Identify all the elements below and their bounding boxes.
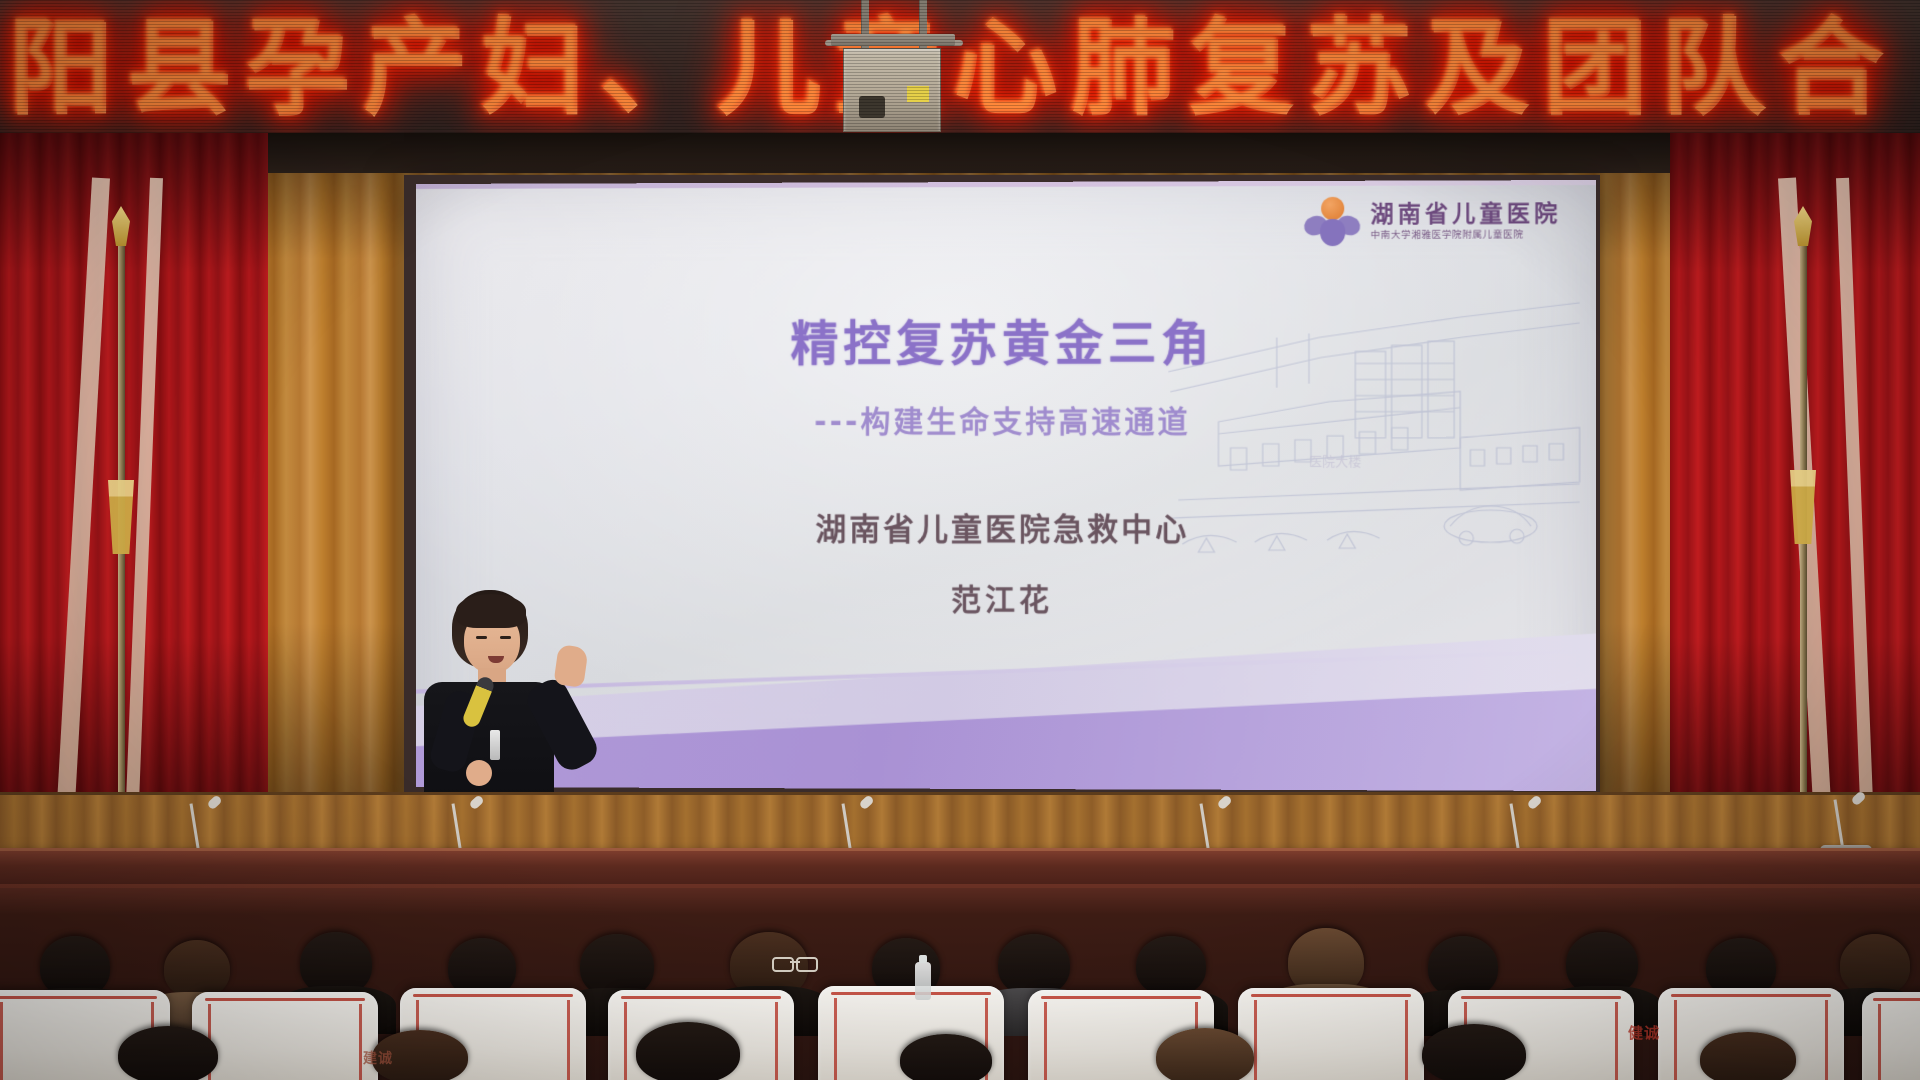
- mic-neck: [190, 803, 200, 851]
- chair-stripe: [1825, 1000, 1828, 1080]
- audience-head-front: [1156, 1028, 1254, 1080]
- hospital-name: 湖南省儿童医院: [1370, 203, 1561, 227]
- presenter-hand-holding-mic: [466, 760, 492, 786]
- slide-title: 精控复苏黄金三角: [416, 303, 1596, 375]
- hospital-logo-text: 湖南省儿童医院 中南大学湘雅医学院附属儿童医院: [1370, 203, 1561, 240]
- audience-head-front: [1700, 1032, 1796, 1080]
- audience-head-front: [118, 1026, 218, 1080]
- led-banner: 阳县孕产妇、儿童心肺复苏及团队合: [0, 0, 1920, 133]
- audience-head: [1428, 936, 1498, 998]
- presenter-eye-right: [500, 636, 511, 639]
- audience-head-front: [1422, 1024, 1526, 1080]
- eyeglasses-icon: [772, 957, 818, 968]
- chair-stripe: [1878, 1004, 1881, 1080]
- projector-indicator-icon: [907, 86, 929, 102]
- audience-head-front: [900, 1034, 992, 1080]
- chair-stripe: [834, 998, 837, 1080]
- water-bottle-icon: [915, 962, 931, 1000]
- chair-stripe: [1254, 1000, 1257, 1080]
- chair-stripe: [1405, 1000, 1408, 1080]
- chair-stripe: [567, 1000, 570, 1080]
- mic-neck: [1834, 799, 1844, 847]
- chair-stripe: [359, 1004, 362, 1080]
- chair-stripe: [1674, 1000, 1677, 1080]
- mic-neck: [1200, 803, 1210, 851]
- chair-cover: [1862, 992, 1920, 1080]
- ceiling-projector-icon: [815, 0, 975, 133]
- mic-head-icon: [1526, 794, 1542, 810]
- glasses-lens-left: [772, 957, 794, 972]
- projector-lens-icon: [859, 96, 885, 118]
- hospital-affiliation: 中南大学湘雅医学院附属儿童医院: [1370, 230, 1561, 240]
- presenter-hair-fringe: [456, 594, 526, 628]
- chair-stripe: [1044, 1002, 1047, 1080]
- slide-organization: 湖南省儿童医院急救中心: [416, 504, 1596, 550]
- audience-head-front: [636, 1022, 740, 1080]
- projector-plate: [831, 34, 955, 46]
- chair-stripe: [624, 1002, 627, 1080]
- chair-cover: [1238, 988, 1424, 1080]
- mic-neck: [842, 803, 852, 851]
- audience-head: [998, 934, 1070, 996]
- chair-stripe: [0, 1002, 3, 1080]
- mic-neck: [1510, 803, 1520, 851]
- slide-subtitle: ---构建生命支持高速通道: [416, 396, 1596, 441]
- chair-printed-label-left: 建诚: [363, 1048, 393, 1068]
- logo-body-icon: [1320, 219, 1345, 246]
- glasses-lens-right: [796, 957, 818, 972]
- presenter-hand-raised: [553, 644, 588, 688]
- chair-cover: [192, 992, 378, 1080]
- chair-printed-label-right: 健诚: [1628, 1022, 1660, 1043]
- hospital-logo: 湖南省儿童医院 中南大学湘雅医学院附属儿童医院: [1304, 196, 1561, 247]
- screenshot-root: 阳县孕产妇、儿童心肺复苏及团队合: [0, 0, 1920, 1080]
- mic-head-icon: [206, 794, 222, 810]
- presenter-eye-left: [476, 636, 487, 639]
- mic-head-icon: [1216, 794, 1232, 810]
- audience-area: [0, 888, 1920, 1080]
- svg-text:医院大楼: 医院大楼: [1309, 455, 1361, 470]
- mic-head-icon: [468, 794, 484, 810]
- audience-head: [1136, 936, 1206, 996]
- chair-stripe: [775, 1002, 778, 1080]
- mic-head-icon: [858, 794, 874, 810]
- audience-head: [1840, 934, 1910, 996]
- mic-head-icon: [1850, 790, 1866, 806]
- chair-stripe: [1615, 1002, 1618, 1080]
- mic-neck: [452, 803, 462, 851]
- presenter-badge: [490, 730, 500, 760]
- upper-wall-band: [0, 133, 1920, 173]
- audience-head: [164, 940, 230, 998]
- hospital-logo-mark-icon: [1304, 197, 1360, 247]
